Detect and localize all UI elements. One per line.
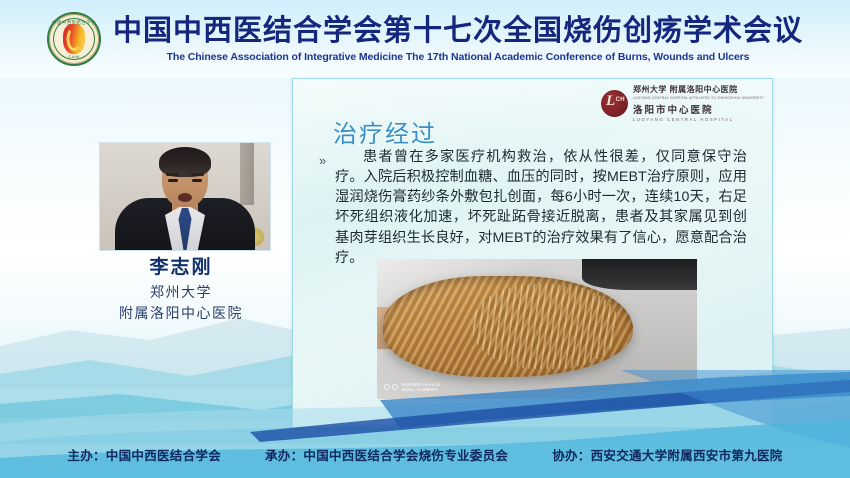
speaker-organization-line1: 郑州大学 <box>66 282 296 304</box>
speaker-eye-left <box>168 179 178 182</box>
presentation-stage: 中国中西医结合学会 CAIM 中国中西医结合学会第十七次全国烧伤创疡学术会议 T… <box>0 0 850 478</box>
conference-logo-icon: 中国中西医结合学会 CAIM <box>47 12 101 66</box>
slide-bullet-marker: » <box>319 153 326 168</box>
speaker-organization-line2: 附属洛阳中心医院 <box>66 303 296 325</box>
hospital-name-cn-secondary: 洛阳市中心医院 <box>633 102 764 116</box>
hospital-name-en-secondary: LUOYANG CENTRAL HOSPITAL <box>633 117 764 122</box>
slide-body-text: 患者曾在多家医疗机构救治，依从性很差，仅同意保守治疗。入院后积极控制血糖、血压的… <box>335 147 747 268</box>
hospital-logo: L CH 郑州大学 附属洛阳中心医院 LUOYANG CENTRAL HOSPI… <box>601 84 764 122</box>
photo-dressed-wound <box>383 276 633 377</box>
hospital-mark-letter: L <box>606 94 615 109</box>
logo-ring-bottom-text: CAIM <box>68 54 79 59</box>
conference-title: 中国中西医结合学会第十七次全国烧伤创疡学术会议 <box>113 15 803 47</box>
hospital-logo-text: 郑州大学 附属洛阳中心医院 LUOYANG CENTRAL HOSPITAL A… <box>633 84 764 122</box>
footer-undertaker: 承办：中国中西医结合学会烧伤专业委员会 <box>265 445 508 464</box>
conference-header: 中国中西医结合学会 CAIM 中国中西医结合学会第十七次全国烧伤创疡学术会议 T… <box>0 0 850 78</box>
wall-edge-shadow <box>240 143 254 205</box>
header-inner: 中国中西医结合学会 CAIM 中国中西医结合学会第十七次全国烧伤创疡学术会议 T… <box>47 12 803 66</box>
hospital-name-en-primary: LUOYANG CENTRAL HOSPITAL AFFILIATED TO Z… <box>633 96 764 100</box>
footer-coorganizer: 协办：西安交通大学附属西安市第九医院 <box>552 445 782 464</box>
speaker-eye-right <box>192 179 202 182</box>
hospital-monogram-icon: L CH <box>601 90 628 117</box>
hospital-name-cn-primary: 郑州大学 附属洛阳中心医院 <box>633 84 764 95</box>
hospital-mark-text: CH <box>616 97 625 103</box>
conference-footer: 主办：中国中西医结合学会 承办：中国中西医结合学会烧伤专业委员会 协办：西安交通… <box>0 445 850 464</box>
speaker-brow-left <box>166 173 179 176</box>
speaker-video-feed[interactable] <box>99 142 271 251</box>
speaker-mouth <box>178 193 192 202</box>
slide-title: 治疗经过 <box>333 114 437 149</box>
conference-subtitle: The Chinese Association of Integrative M… <box>167 51 750 63</box>
logo-arc-shape <box>66 27 81 51</box>
speaker-info: 李志刚 郑州大学 附属洛阳中心医院 <box>66 255 296 325</box>
speaker-brow-right <box>191 173 204 176</box>
speaker-name: 李志刚 <box>66 255 296 282</box>
photo-dark-corner <box>582 259 697 290</box>
footer-organizer: 主办：中国中西医结合学会 <box>67 445 221 464</box>
header-title-block: 中国中西医结合学会第十七次全国烧伤创疡学术会议 The Chinese Asso… <box>113 15 803 62</box>
